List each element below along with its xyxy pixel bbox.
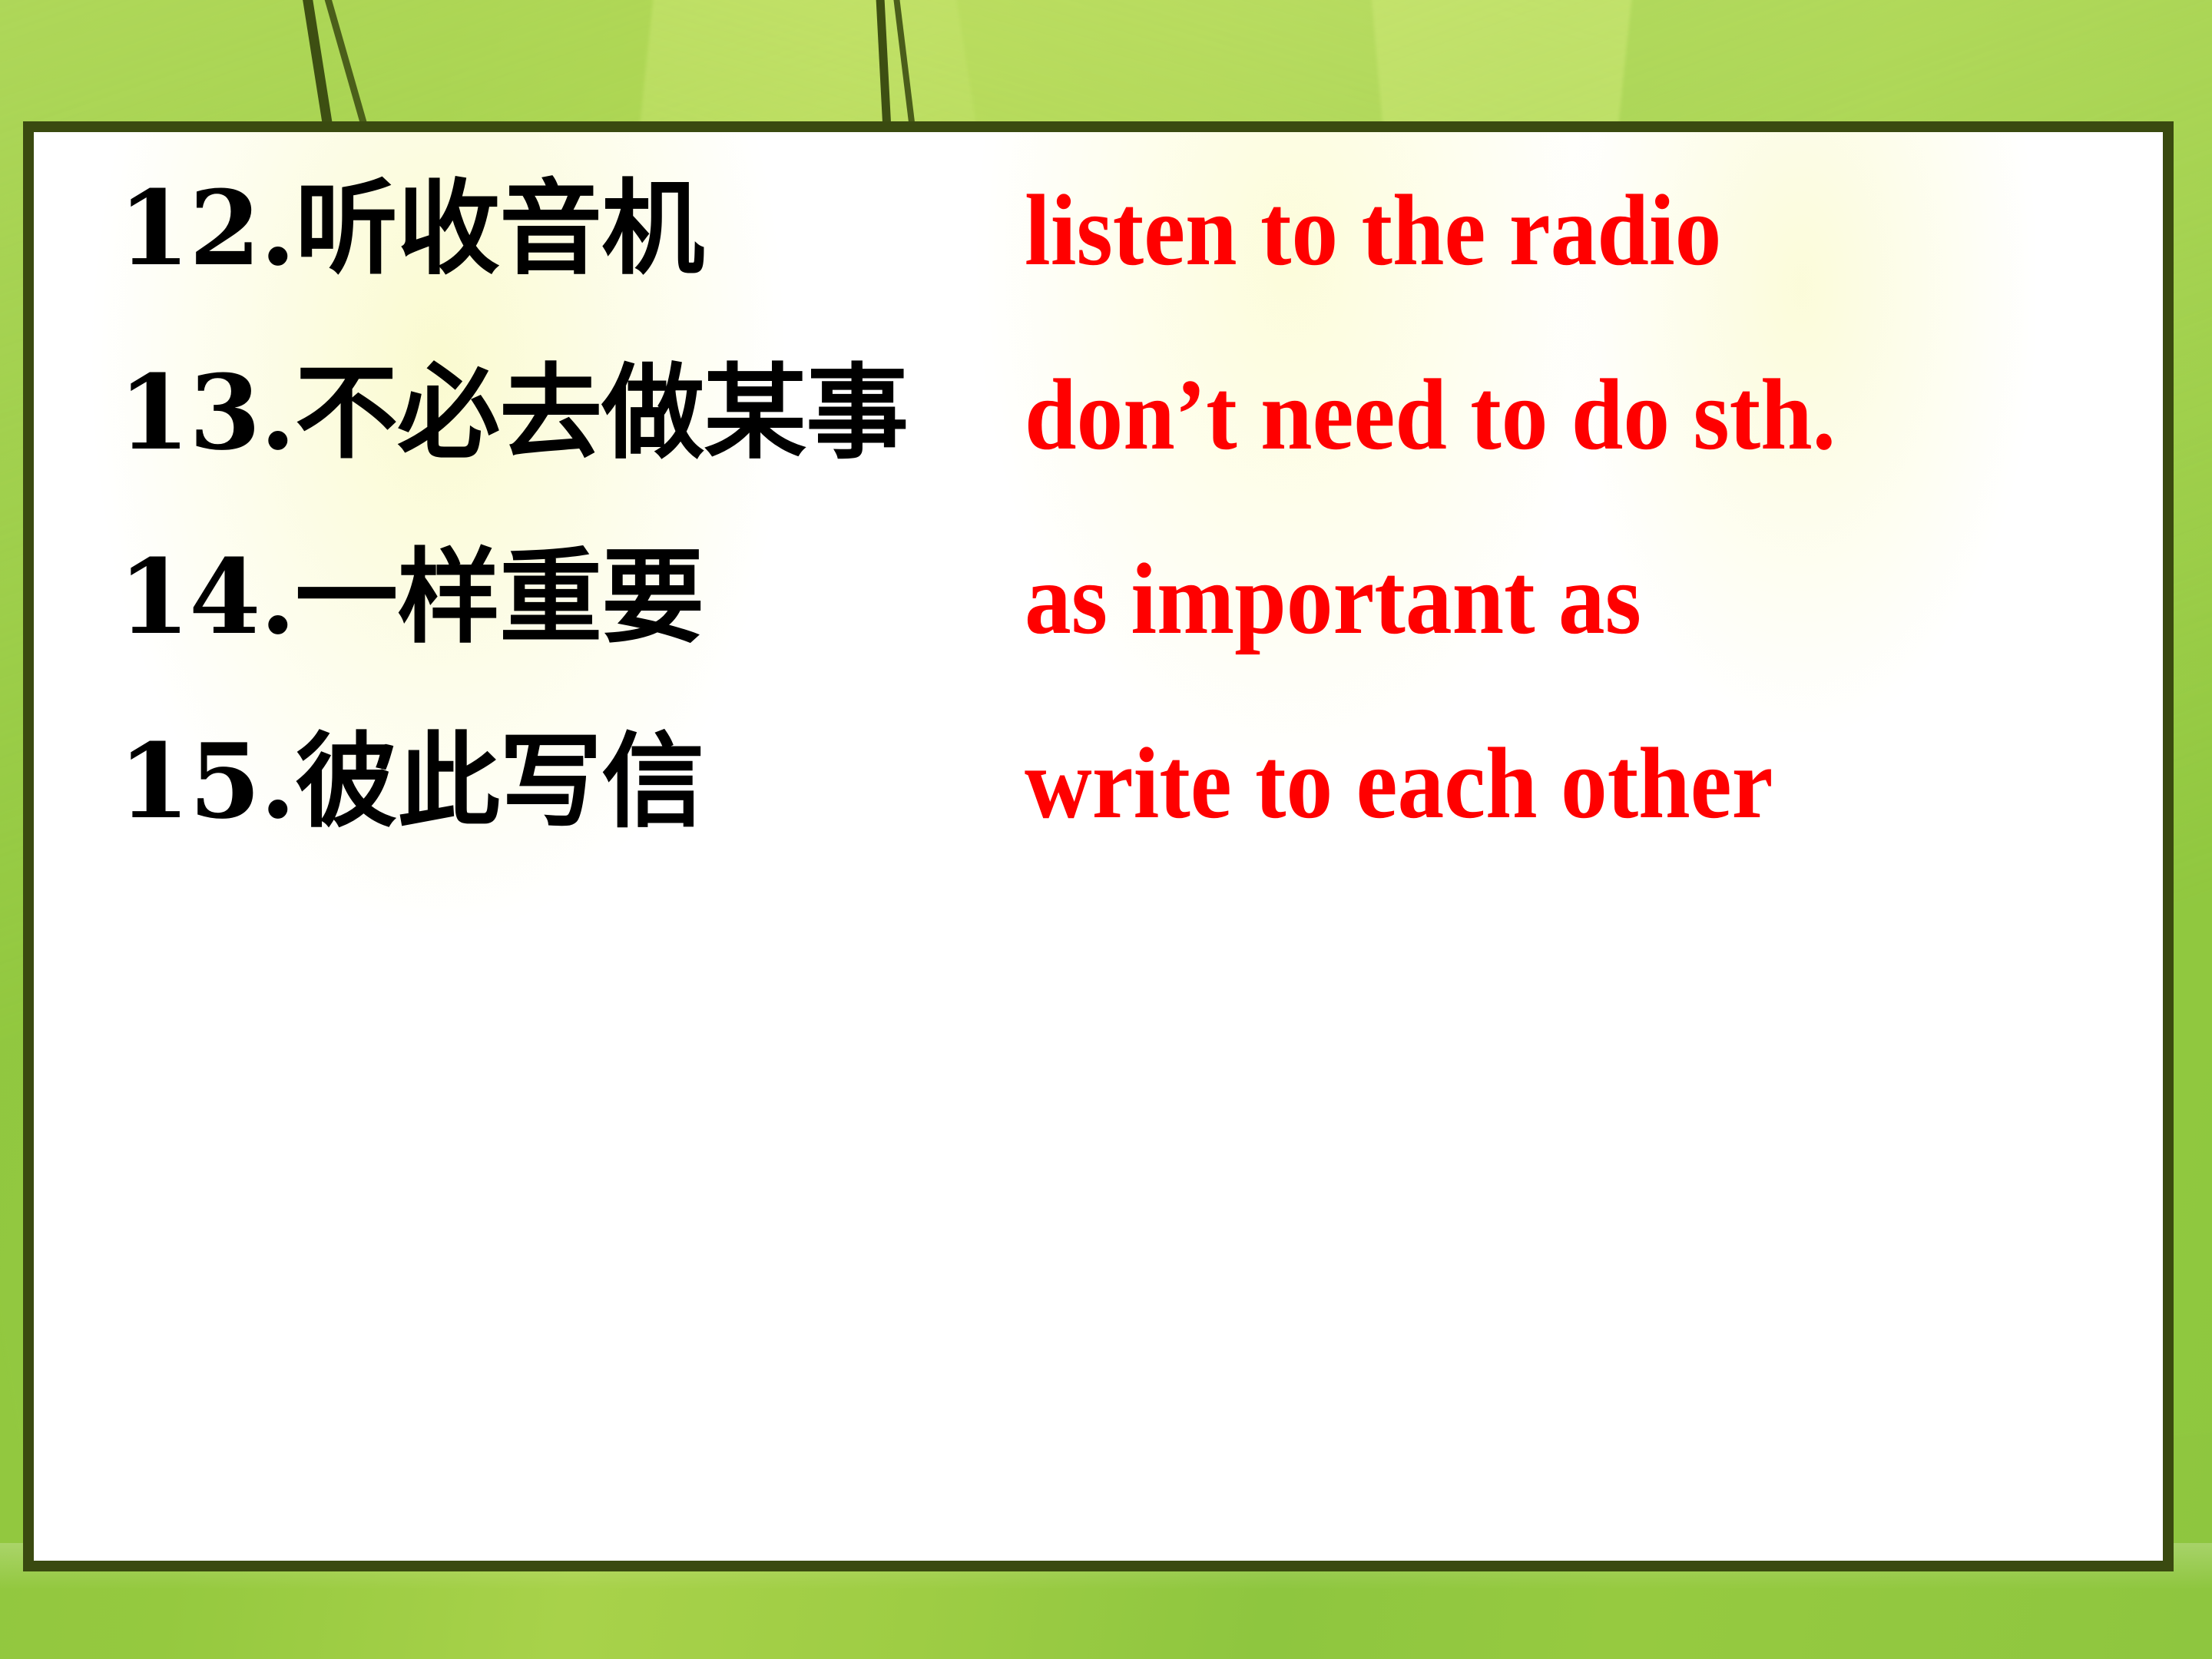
vocab-row: 14.一样重要 as important as (118, 545, 2085, 730)
slide-root: 12.听收音机 listen to the radio 13.不必去做某事 do… (0, 0, 2212, 1659)
vocab-row: 15.彼此写信 write to each other (118, 730, 2085, 914)
vocab-chinese-text-15: 彼此写信 (295, 720, 704, 842)
vocab-english-12: listen to the radio (1025, 180, 2000, 281)
vocab-number-12: 12. (118, 167, 295, 289)
vocab-english-14: as important as (1025, 548, 2000, 650)
vocab-number-13: 13. (118, 352, 295, 473)
vocab-chinese-13: 13.不必去做某事 (118, 361, 1025, 464)
vocab-row: 12.听收音机 listen to the radio (118, 177, 2085, 361)
vocab-english-13: don’t need to do sth. (1025, 364, 2000, 465)
vocab-row: 13.不必去做某事 don’t need to do sth. (118, 361, 2085, 545)
vocab-english-15: write to each other (1025, 733, 2000, 834)
vocab-chinese-text-13: 不必去做某事 (295, 352, 908, 473)
vocabulary-list: 12.听收音机 listen to the radio 13.不必去做某事 do… (118, 177, 2085, 914)
vocab-chinese-12: 12.听收音机 (118, 177, 1025, 280)
content-panel: 12.听收音机 listen to the radio 13.不必去做某事 do… (23, 121, 2174, 1571)
vocab-number-15: 15. (118, 720, 295, 842)
vocab-chinese-15: 15.彼此写信 (118, 730, 1025, 833)
vocab-number-14: 14. (118, 536, 295, 657)
vocab-chinese-14: 14.一样重要 (118, 545, 1025, 648)
vocab-chinese-text-12: 听收音机 (295, 167, 704, 289)
vocab-chinese-text-14: 一样重要 (295, 536, 704, 657)
